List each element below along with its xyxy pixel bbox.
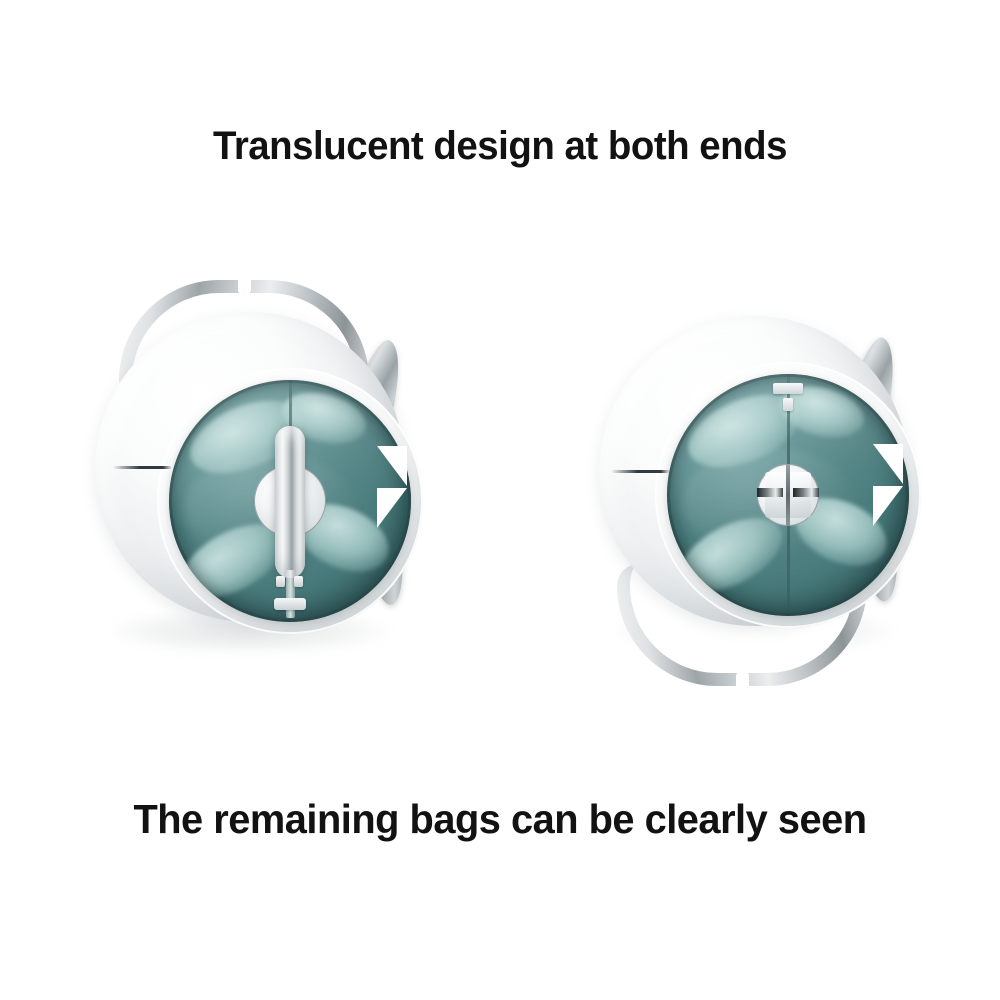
body-side-seam-line xyxy=(113,466,171,469)
center-hub xyxy=(757,464,819,526)
product-stage xyxy=(0,250,1000,710)
spindle-base-plate xyxy=(274,598,306,610)
top-cap-tab xyxy=(783,398,793,411)
top-cap-mark xyxy=(773,383,803,394)
strap-notch-wedge-upper xyxy=(873,444,903,484)
caption-bottom: The remaining bags can be clearly seen xyxy=(15,796,985,843)
dispenser-body-shell xyxy=(95,312,405,622)
strap-notch-wedge-lower xyxy=(377,488,407,528)
spindle-foot-detail xyxy=(276,576,285,587)
handle-center-notch xyxy=(736,672,749,687)
caption-top: Translucent design at both ends xyxy=(20,124,980,169)
strap-notch-wedge-lower xyxy=(873,486,903,526)
body-side-seam-line xyxy=(611,470,669,473)
metal-spindle xyxy=(275,426,305,578)
product-view-front xyxy=(55,278,435,678)
product-view-rear xyxy=(565,292,945,692)
dispenser-body-shell xyxy=(599,316,909,626)
hub-detail-bar-left xyxy=(757,488,783,497)
spindle-foot-detail xyxy=(294,576,303,587)
translucent-lens-window xyxy=(169,380,411,622)
hub-seam-line xyxy=(786,464,790,526)
strap-notch-wedge-upper xyxy=(377,446,407,486)
hub-detail-bar-right xyxy=(793,488,819,497)
product-image-canvas: Translucent design at both ends xyxy=(0,0,1000,1000)
handle-center-notch xyxy=(238,279,251,294)
